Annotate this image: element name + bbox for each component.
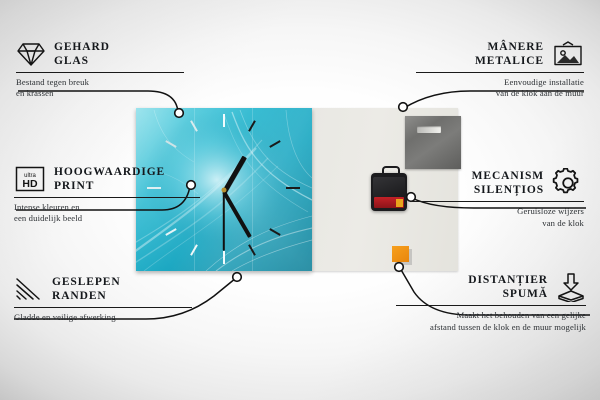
feature-caption: Intense kleuren en een duidelijk beeld [14, 202, 200, 225]
feature-title: DISTANȚIER SPUMĂ [468, 273, 548, 302]
gear-icon [552, 168, 584, 198]
leader-dot-edges [233, 273, 242, 282]
feature-title: MÂNERE METALICE [475, 40, 544, 69]
title-rule [14, 197, 200, 198]
second-hand [223, 190, 225, 250]
feature-title: GESLEPEN RANDEN [52, 275, 121, 304]
feature-title: GEHARD GLAS [54, 40, 110, 69]
beveled-edge-icon [14, 276, 44, 302]
leader-dot-handles [399, 103, 408, 112]
title-rule [396, 305, 586, 306]
feature-metal-handles: MÂNERE METALICE Eenvoudige installatie v… [416, 40, 584, 100]
feature-caption: Gladde en veilige afwerking [14, 312, 192, 324]
leader-dot-tempered-glass [175, 109, 184, 118]
title-rule [416, 72, 584, 73]
press-down-icon [556, 272, 586, 302]
feature-caption: Eenvoudige installatie van de klok aan d… [416, 77, 584, 100]
feature-caption: Bestand tegen breuk en krassen [16, 77, 184, 100]
feature-tempered-glass: GEHARD GLAS Bestand tegen breuk en krass… [16, 40, 184, 100]
feature-caption: Maakt het behouden van een gelijke afsta… [396, 310, 586, 333]
hand-pin [222, 187, 227, 192]
infographic-canvas: GEHARD GLAS Bestand tegen breuk en krass… [0, 0, 600, 400]
feature-title: HOOGWAARDIGE PRINT [54, 165, 165, 194]
feature-ground-edges: GESLEPEN RANDEN Gladde en veilige afwerk… [14, 275, 192, 323]
ultra-hd-icon: ultra HD [14, 165, 46, 193]
diamond-icon [16, 41, 46, 67]
feature-title: MECANISM SILENȚIOS [472, 169, 544, 198]
title-rule [410, 201, 584, 202]
title-rule [14, 307, 192, 308]
svg-text:HD: HD [22, 178, 38, 190]
feature-caption: Geruisloze wijzers van de klok [410, 206, 584, 229]
feature-high-quality-print: ultra HD HOOGWAARDIGE PRINT Intense kleu… [14, 165, 200, 225]
title-rule [16, 72, 184, 73]
picture-hanger-icon [552, 41, 584, 68]
feature-foam-spacer: DISTANȚIER SPUMĂ Maakt het behouden van … [396, 272, 586, 333]
leader-dot-spacer [395, 263, 404, 272]
feature-silent-mechanism: MECANISM SILENȚIOS Geruisloze wijzers va… [410, 168, 584, 229]
